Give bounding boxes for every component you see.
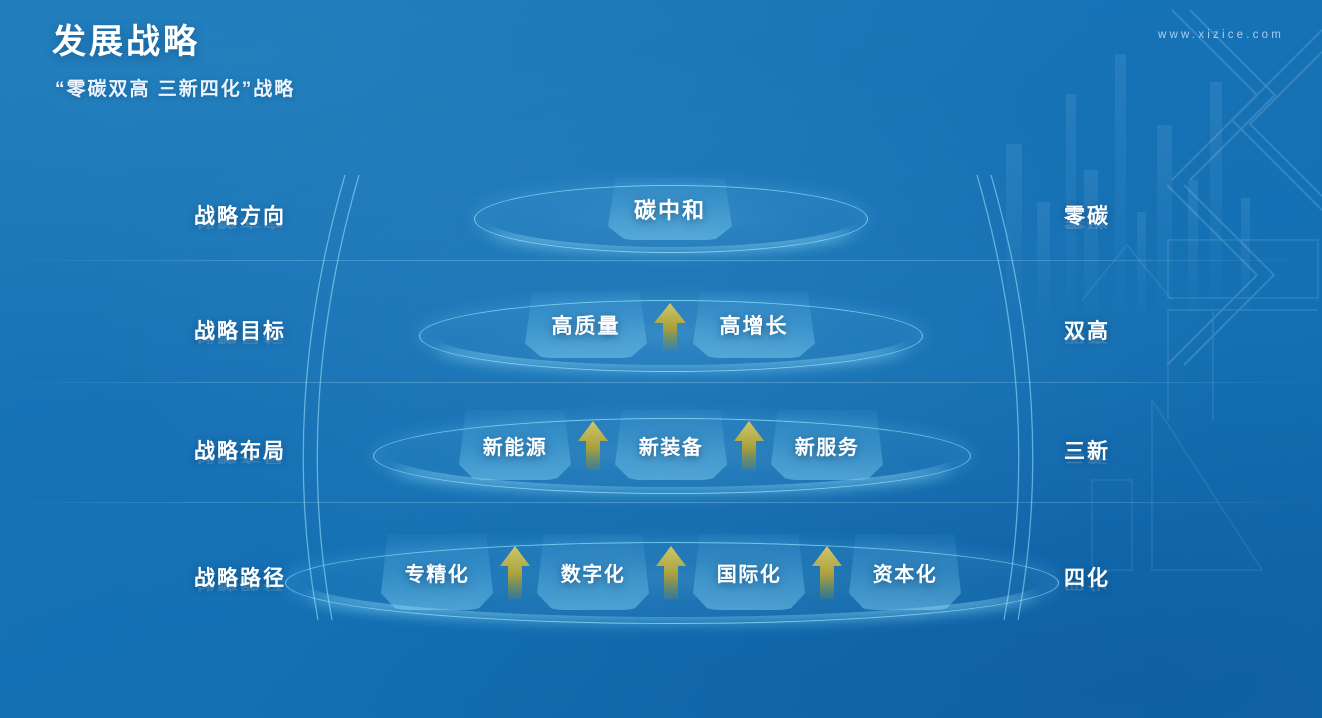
site-watermark: www.xizice.com <box>1158 29 1284 41</box>
item-label: 专精化 <box>405 558 470 587</box>
level-1-items: 碳中和 碳中和 <box>474 178 866 240</box>
level-4-left-label-reflection: 战略路径 <box>194 578 286 595</box>
item-pill[interactable]: 专精化 专精化 <box>381 534 493 610</box>
level-1-right-label-reflection: 零碳 <box>1064 216 1110 233</box>
up-arrow-icon <box>727 416 771 474</box>
level-3-left-label: 战略布局 战略布局 <box>194 435 286 497</box>
header: 发展战略 “零碳双高 三新四化”战略 <box>52 24 295 101</box>
level-4-left-label: 战略路径 战略路径 <box>194 562 286 624</box>
item-pill[interactable]: 新能源 新能源 <box>459 410 571 480</box>
level-2-left-label: 战略目标 战略目标 <box>194 315 286 377</box>
level-3-left-label-reflection: 战略布局 <box>194 451 286 468</box>
level-4-right-label: 四化 四化 <box>1064 562 1110 624</box>
item-pill[interactable]: 高增长 高增长 <box>693 292 815 358</box>
level-1-left-label: 战略方向 战略方向 <box>194 200 286 262</box>
level-4-right-label-reflection: 四化 <box>1064 578 1110 595</box>
strategy-funnel-diagram: 战略方向 战略方向 零碳 零碳 碳中和 碳中和 战略目标 战略目标 双 <box>0 150 1322 670</box>
item-pill[interactable]: 数字化 数字化 <box>537 534 649 610</box>
item-label: 新装备 <box>639 431 704 460</box>
level-3-items: 新能源 新能源 <box>373 410 969 480</box>
level-2-right-label: 双高 双高 <box>1064 315 1110 377</box>
level-3-right-label: 三新 三新 <box>1064 435 1110 497</box>
item-pill[interactable]: 新装备 新装备 <box>615 410 727 480</box>
item-pill[interactable]: 碳中和 碳中和 <box>608 178 732 240</box>
level-1-left-label-reflection: 战略方向 <box>194 216 286 233</box>
level-2-right-label-reflection: 双高 <box>1064 331 1110 348</box>
up-arrow-icon <box>805 541 849 603</box>
up-arrow-icon <box>571 416 615 474</box>
up-arrow-icon <box>493 541 537 603</box>
item-pill[interactable]: 高质量 高质量 <box>525 292 647 358</box>
item-pill[interactable]: 新服务 新服务 <box>771 410 883 480</box>
page-title: 发展战略 <box>52 24 295 61</box>
item-label: 新服务 <box>795 431 860 460</box>
level-2-items: 高质量 高质量 <box>419 292 921 358</box>
item-label: 国际化 <box>717 558 782 587</box>
level-1-right-label: 零碳 零碳 <box>1064 200 1110 262</box>
item-label: 碳中和 <box>634 193 706 225</box>
item-label: 高质量 <box>552 310 621 340</box>
item-label: 资本化 <box>873 558 938 587</box>
item-label: 新能源 <box>483 431 548 460</box>
item-pill[interactable]: 资本化 资本化 <box>849 534 961 610</box>
level-3-right-label-reflection: 三新 <box>1064 451 1110 468</box>
item-label: 数字化 <box>561 558 626 587</box>
item-pill[interactable]: 国际化 国际化 <box>693 534 805 610</box>
level-2-left-label-reflection: 战略目标 <box>194 331 286 348</box>
level-4-items: 专精化 专精化 <box>285 534 1057 610</box>
up-arrow-icon <box>649 541 693 603</box>
item-label: 高增长 <box>720 310 789 340</box>
slide-canvas: 发展战略 “零碳双高 三新四化”战略 www.xizice.com 战略方向 战… <box>0 0 1322 718</box>
page-subtitle: “零碳双高 三新四化”战略 <box>55 74 295 101</box>
up-arrow-icon <box>647 297 693 353</box>
